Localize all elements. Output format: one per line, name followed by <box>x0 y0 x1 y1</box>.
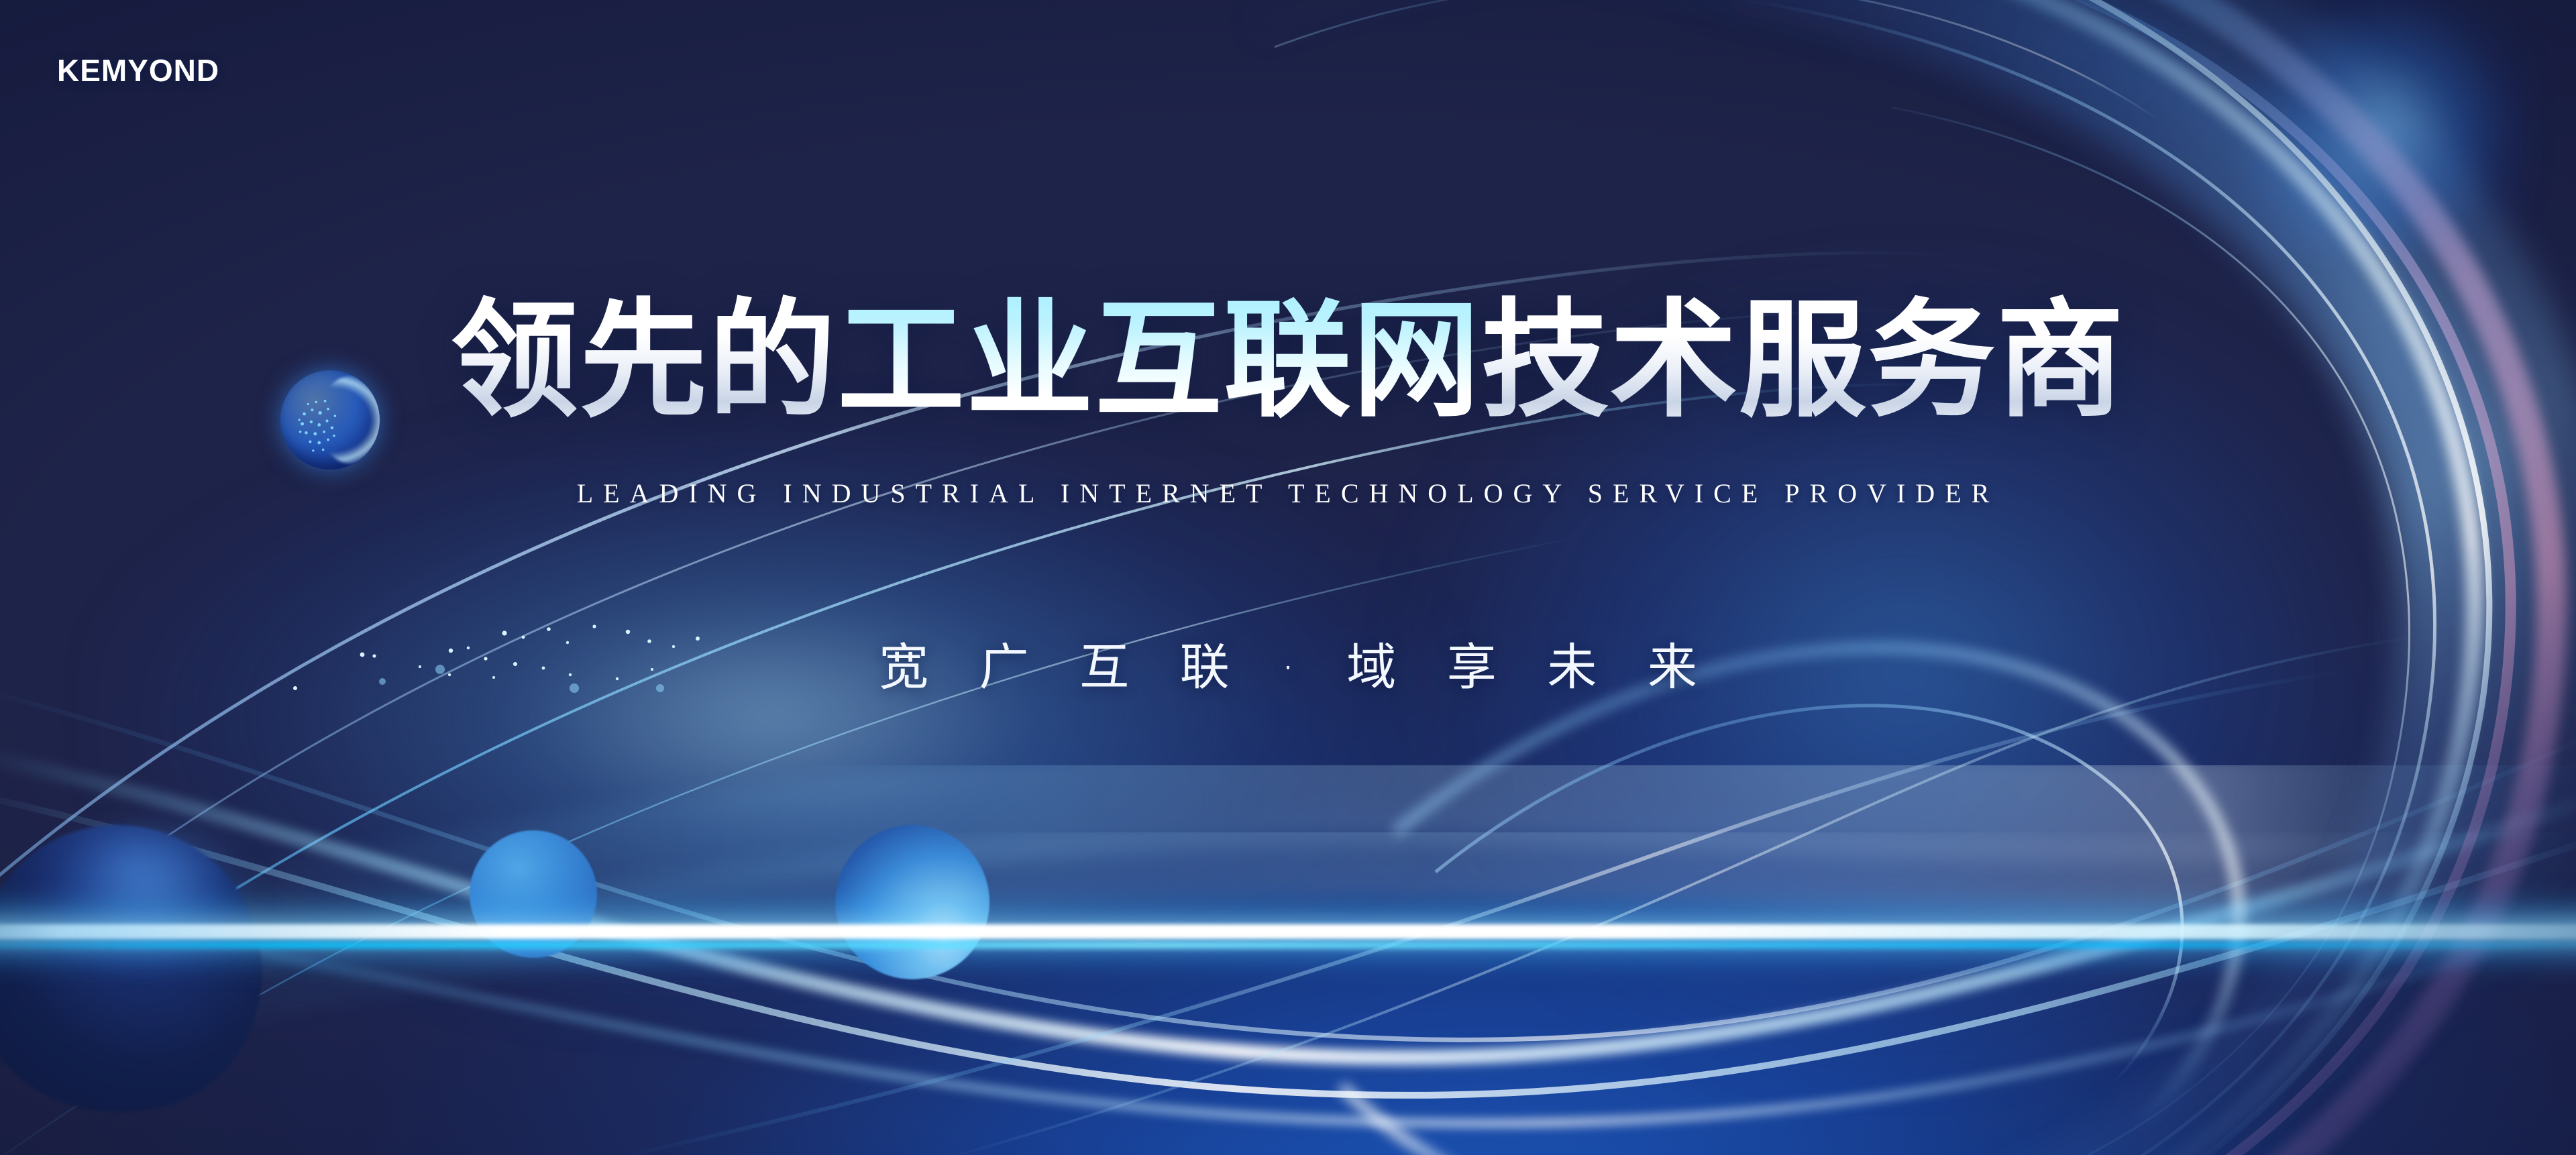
page-subtitle: LEADING INDUSTRIAL INTERNET TECHNOLOGY S… <box>577 478 2000 509</box>
page-tagline: 宽 广 互 联 · 域 享 未 来 <box>861 627 1715 699</box>
headline-segment-2: 工业互联网 <box>837 286 1481 435</box>
swirl-graphic <box>1194 0 2576 1155</box>
banner-canvas: KEMYOND 领先的工业互联网技术服务商 LEADING INDUSTRIAL… <box>0 0 2576 1155</box>
page-title: 领先的工业互联网技术服务商 <box>451 297 2125 425</box>
headline-segment-1: 领先的 <box>451 286 837 435</box>
brand-logo[interactable]: KEMYOND <box>57 52 219 89</box>
headline-segment-3: 技术服务商 <box>1481 286 2125 435</box>
glow-particles <box>255 557 765 745</box>
